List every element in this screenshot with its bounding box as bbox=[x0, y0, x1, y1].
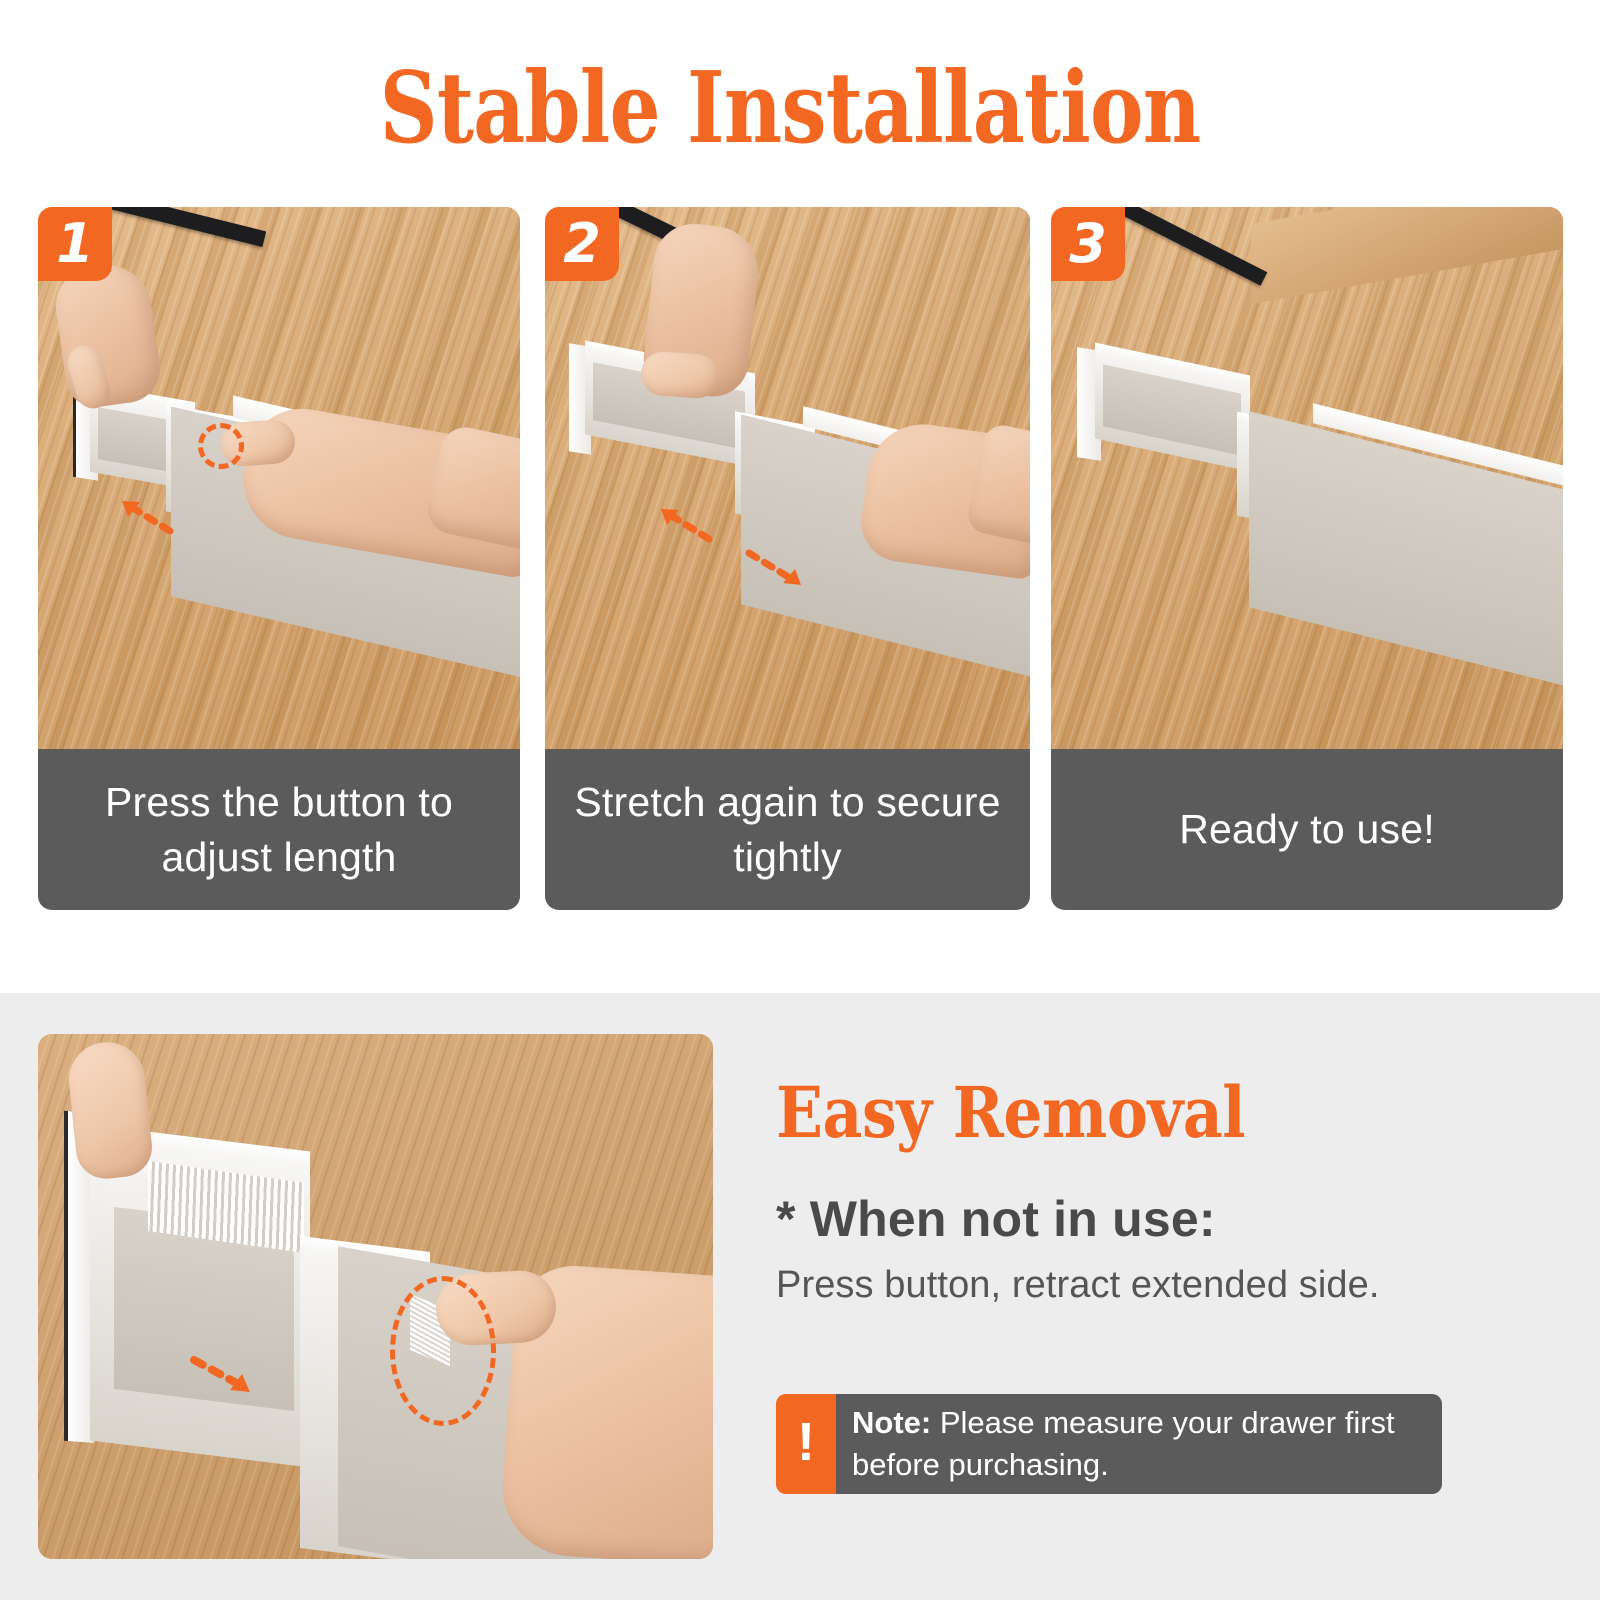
step-caption-1: Press the button to adjust length bbox=[38, 749, 520, 910]
easy-removal-copy: Easy Removal * When not in use: Press bu… bbox=[776, 993, 1566, 1307]
step-card-2: 2 Stretch again to secure tightly bbox=[545, 207, 1030, 910]
stable-installation-section: Stable Installation bbox=[0, 0, 1600, 993]
button-highlight-circle bbox=[390, 1276, 496, 1426]
step-3-photo bbox=[1051, 207, 1563, 749]
step-caption-3: Ready to use! bbox=[1051, 749, 1563, 910]
step-badge-1: 1 bbox=[38, 207, 112, 281]
note-message: Please measure your drawer first before … bbox=[852, 1405, 1395, 1482]
dashed-arrow-right bbox=[188, 1352, 278, 1412]
step-badge-2: 2 bbox=[545, 207, 619, 281]
note-label: Note: bbox=[852, 1405, 931, 1440]
button-highlight-circle bbox=[198, 423, 244, 469]
note-text: Note: Please measure your drawer first b… bbox=[836, 1394, 1442, 1494]
easy-removal-subheading: * When not in use: bbox=[776, 1190, 1566, 1248]
left-thumb bbox=[640, 350, 721, 399]
dashed-arrow-left bbox=[637, 495, 717, 545]
step-card-1: 1 Press the button to adjust length bbox=[38, 207, 520, 910]
step-card-3: 3 Ready to use! bbox=[1051, 207, 1563, 910]
dashed-arrow-right bbox=[743, 547, 833, 599]
step-1-photo bbox=[38, 207, 520, 749]
easy-removal-heading: Easy Removal bbox=[776, 1071, 1471, 1154]
step-badge-3: 3 bbox=[1051, 207, 1125, 281]
note-callout: ! Note: Please measure your drawer first… bbox=[776, 1394, 1442, 1494]
step-2-photo bbox=[545, 207, 1030, 749]
dashed-arrow-left bbox=[98, 487, 178, 537]
easy-removal-section: Easy Removal * When not in use: Press bu… bbox=[0, 993, 1600, 1600]
exclamation-icon: ! bbox=[776, 1394, 836, 1494]
step-caption-2: Stretch again to secure tightly bbox=[545, 749, 1030, 910]
easy-removal-photo bbox=[38, 1034, 713, 1559]
easy-removal-body: Press button, retract extended side. bbox=[776, 1264, 1566, 1307]
page-title: Stable Installation bbox=[142, 58, 1438, 161]
